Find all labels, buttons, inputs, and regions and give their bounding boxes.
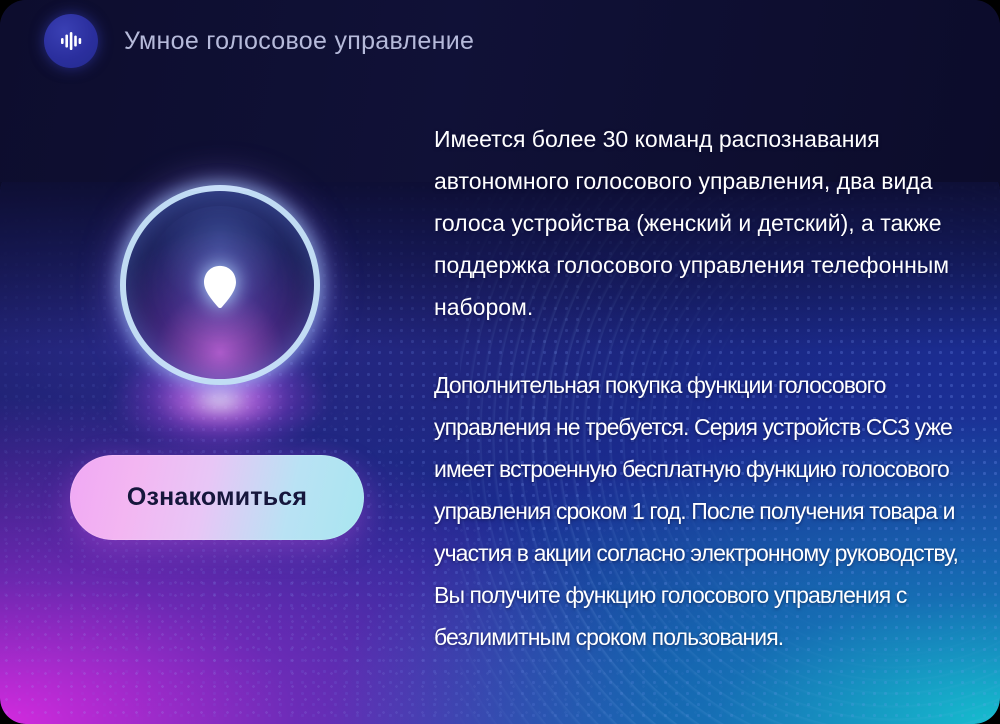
voice-waveform-icon — [44, 14, 98, 68]
orb-inner-sheen — [147, 206, 294, 353]
header: Умное голосовое управление — [44, 14, 474, 68]
paragraph-1: Имеется более 30 команд распознавания ав… — [434, 118, 964, 328]
content-copy: Имеется более 30 команд распознавания ав… — [434, 118, 964, 658]
paragraph-2: Дополнительная покупка функции голосовог… — [434, 364, 964, 658]
promo-page: Умное голосовое управление Ознакомиться … — [0, 0, 1000, 724]
familiarize-button[interactable]: Ознакомиться — [70, 455, 364, 540]
voice-orb-graphic — [120, 185, 320, 385]
orb-ring — [120, 185, 320, 385]
page-title: Умное голосовое управление — [124, 27, 474, 56]
